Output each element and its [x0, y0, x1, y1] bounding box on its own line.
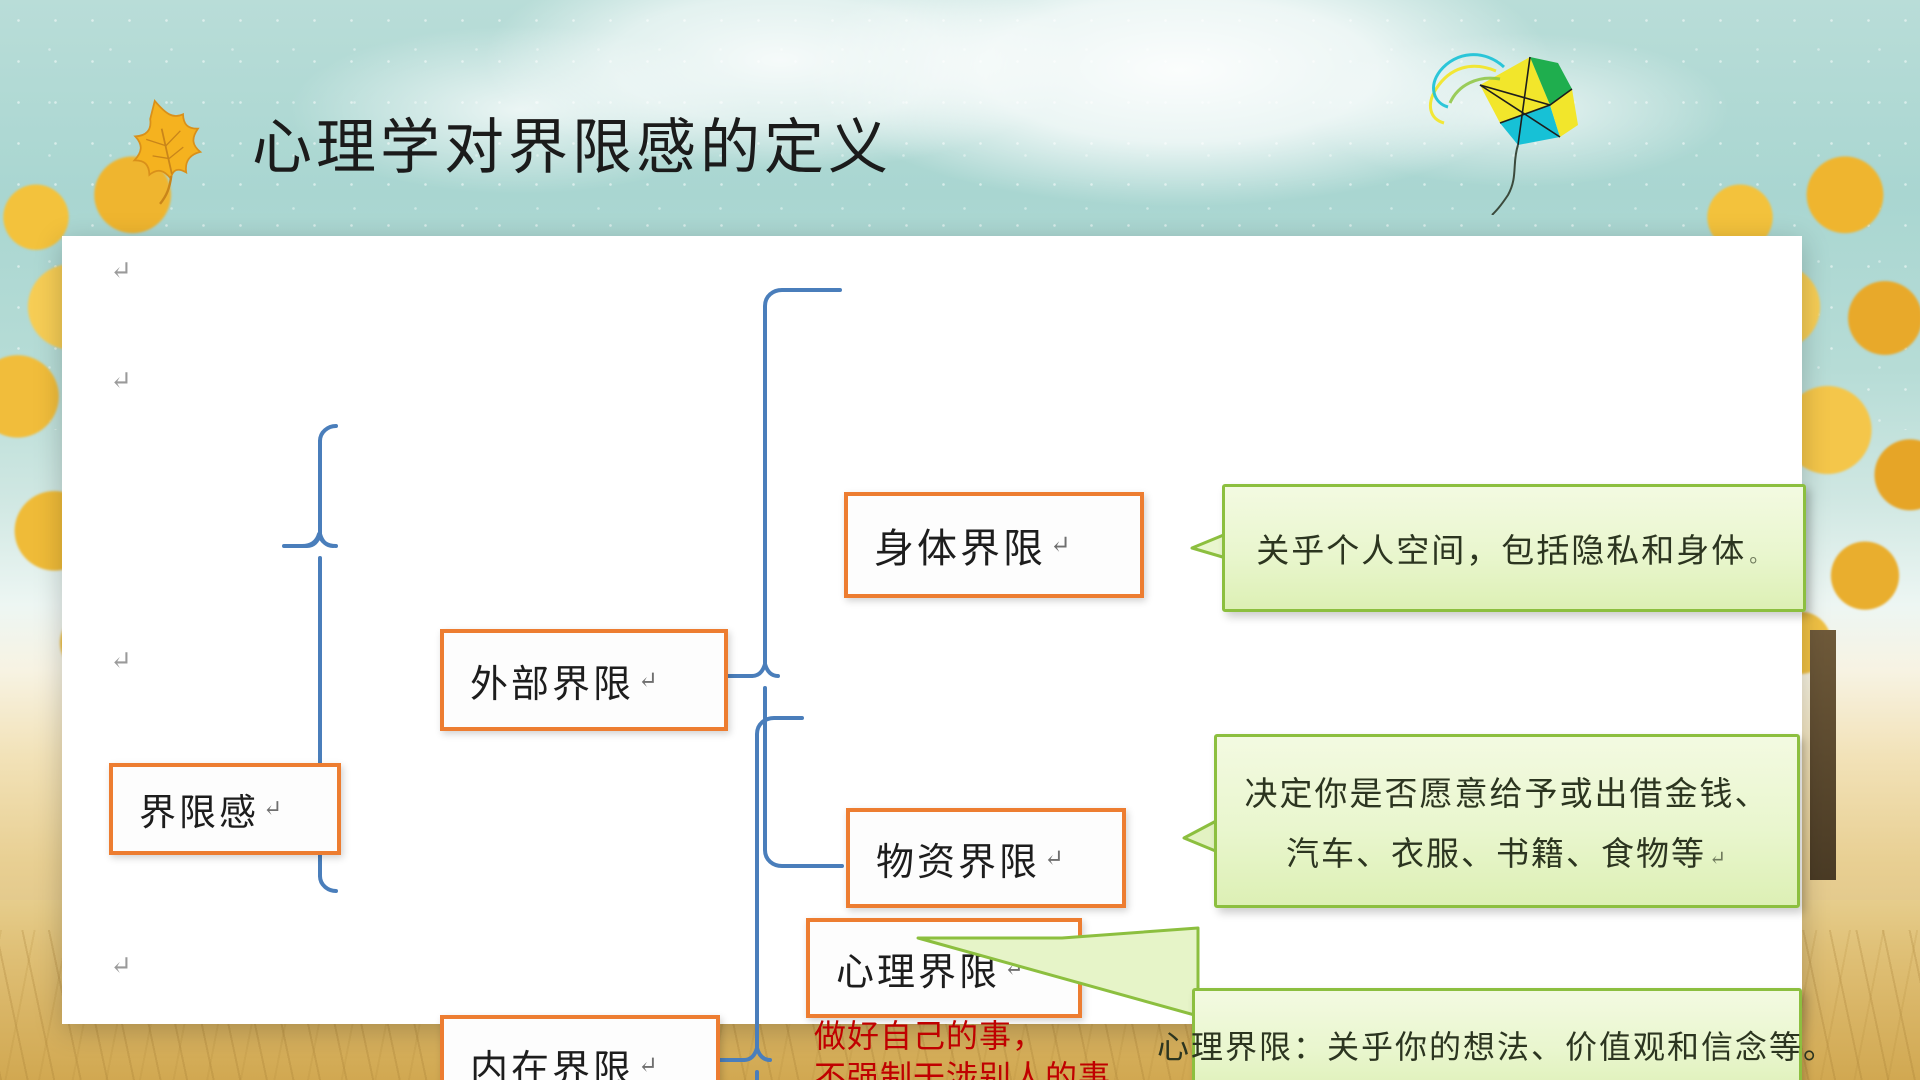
callout-text: 汽车、衣服、书籍、食物等 [1286, 837, 1706, 873]
callout-line: 关乎个人空间，包括隐私和身体。 [1256, 524, 1771, 572]
node-physical-boundary-label: 身体界限 [848, 516, 1046, 574]
callout-line: 心理界限：关乎你的想法、价值观和信念等。 [1157, 1022, 1837, 1068]
callout-material-boundary-body: 决定你是否愿意给予或出借金钱、 汽车、衣服、书籍、食物等↵ [1214, 734, 1800, 908]
kite-icon [1400, 45, 1620, 215]
node-material-boundary[interactable]: 物资界限 ↵ [846, 808, 1126, 908]
node-internal-boundary[interactable]: 内在界限 ↵ [440, 1015, 720, 1080]
node-material-boundary-label: 物资界限 [850, 831, 1040, 886]
page-title: 心理学对界限感的定义 [252, 118, 892, 178]
callout-text: 关乎个人空间，包括隐私和身体 [1256, 534, 1746, 570]
slide-canvas: 心理学对界限感的定义 ↵ ↵ ↵ ↵ ↵ [0, 0, 1920, 1080]
node-root[interactable]: 界限感 ↵ [109, 763, 341, 855]
red-annotation-line-2: 不强制干涉别人的事， [814, 1057, 1144, 1080]
paragraph-mark: 。 [1749, 545, 1771, 567]
paragraph-mark: ↵ [638, 666, 658, 695]
node-internal-boundary-label: 内在界限 [444, 1038, 634, 1080]
paragraph-mark: ↵ [1050, 530, 1071, 560]
paragraph-mark: ↵ [263, 796, 282, 822]
node-external-boundary-label: 外部界限 [444, 653, 634, 708]
paragraph-mark: ↵ [1044, 844, 1064, 873]
node-root-label: 界限感 [113, 782, 259, 836]
paragraph-mark: ↵ [638, 1051, 658, 1080]
callout-line: 决定你是否愿意给予或出借金钱、 [1245, 767, 1770, 815]
tree-trunk [1810, 630, 1836, 880]
node-physical-boundary[interactable]: 身体界限 ↵ [844, 492, 1144, 598]
paragraph-mark: ↵ [1709, 848, 1728, 870]
callout-material-boundary[interactable]: 决定你是否愿意给予或出借金钱、 汽车、衣服、书籍、食物等↵ [1182, 734, 1794, 902]
node-external-boundary[interactable]: 外部界限 ↵ [440, 629, 728, 731]
callout-physical-boundary-body: 关乎个人空间，包括隐私和身体。 [1222, 484, 1806, 612]
diagram-canvas: ↵ ↵ ↵ ↵ ↵ [62, 236, 1802, 1024]
callout-psychological-boundary[interactable]: 心理界限：关乎你的想法、价值观和信念等。 [1160, 988, 1796, 1080]
callout-physical-boundary[interactable]: 关乎个人空间，包括隐私和身体。 [1190, 484, 1800, 606]
callout-line: 汽车、衣服、书籍、食物等↵ [1286, 827, 1728, 875]
callout-psychological-boundary-body: 心理界限：关乎你的想法、价值观和信念等。 [1192, 988, 1802, 1080]
